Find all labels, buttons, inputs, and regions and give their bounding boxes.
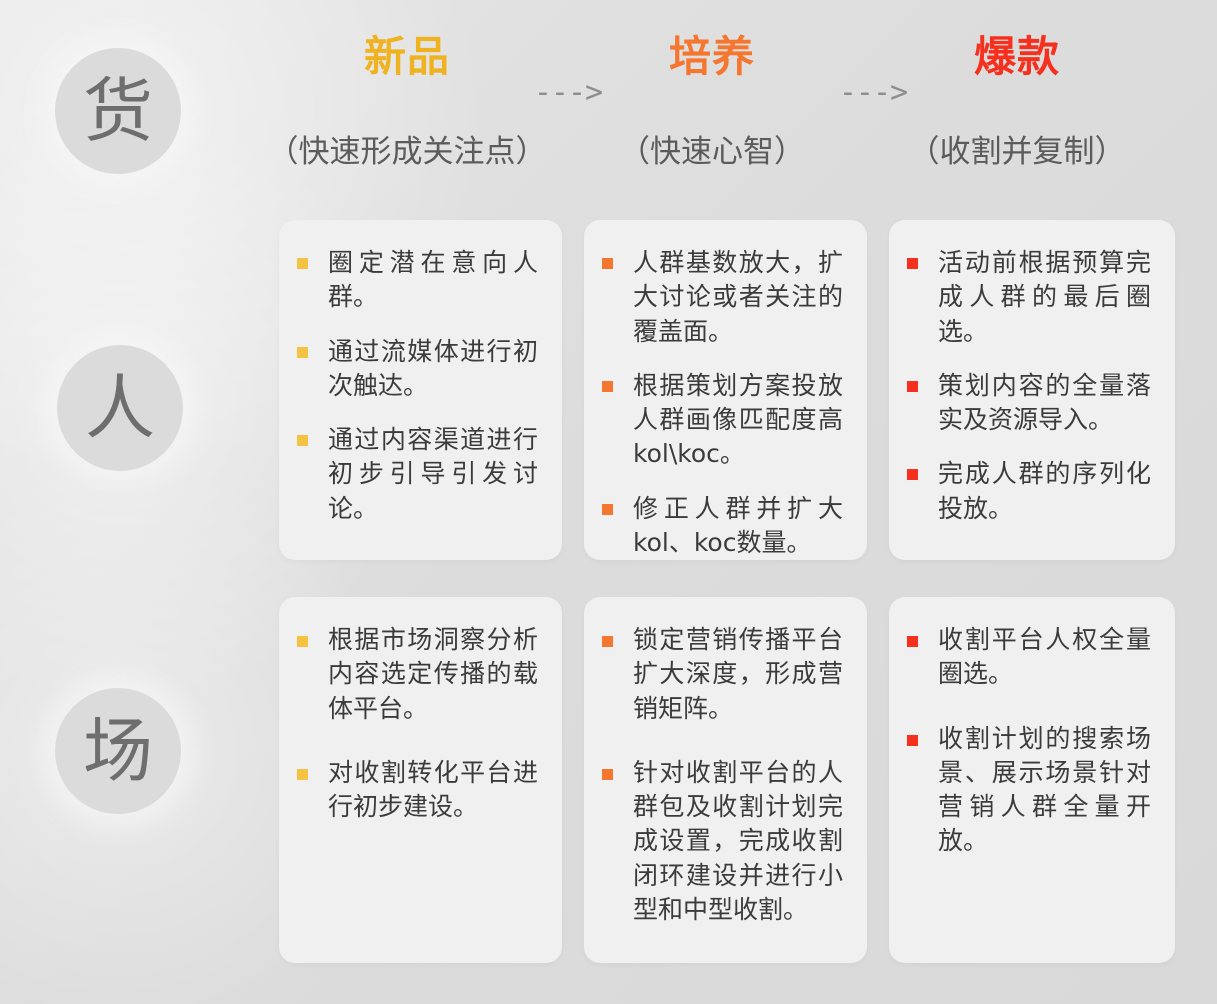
bullet-text: 对收割转化平台进行初步建设。 [328, 756, 538, 825]
bullet-list: 人群基数放大，扩大讨论或者关注的覆盖面。根据策划方案投放人群画像匹配度高kol\… [602, 246, 843, 560]
badge-goods-label: 货 [83, 76, 153, 146]
bullet-text: 完成人群的序列化投放。 [938, 457, 1151, 526]
bullet-item: 策划内容的全量落实及资源导入。 [907, 369, 1151, 438]
infographic-canvas: 货 人 场 新品 （快速形成关注点） ---> 培养 （快速心智） ---> 爆… [0, 0, 1217, 1004]
bullet-item: 锁定营销传播平台扩大深度，形成营销矩阵。 [602, 623, 843, 726]
bullet-square-icon [602, 258, 613, 269]
card-people-new-product: 圈定潜在意向人群。通过流媒体进行初次触达。通过内容渠道进行初步引导引发讨论。 [279, 220, 562, 560]
bullet-text: 通过内容渠道进行初步引导引发讨论。 [328, 423, 538, 526]
bullet-item: 通过内容渠道进行初步引导引发讨论。 [297, 423, 538, 526]
bullet-square-icon [602, 636, 613, 647]
card-place-new-product: 根据市场洞察分析内容选定传播的载体平台。对收割转化平台进行初步建设。 [279, 597, 562, 963]
stage-title-hot-item: 爆款 [872, 34, 1162, 80]
bullet-square-icon [907, 381, 918, 392]
stage-subtitle-hot-item: （收割并复制） [872, 126, 1162, 171]
bullet-square-icon [907, 735, 918, 746]
bullet-square-icon [297, 258, 308, 269]
bullet-item: 人群基数放大，扩大讨论或者关注的覆盖面。 [602, 246, 843, 349]
bullet-item: 活动前根据预算完成人群的最后圈选。 [907, 246, 1151, 349]
stage-subtitle-new-product: （快速形成关注点） [262, 126, 552, 171]
bullet-text: 锁定营销传播平台扩大深度，形成营销矩阵。 [633, 623, 843, 726]
badge-place-label: 场 [83, 716, 153, 786]
bullet-item: 收割计划的搜索场景、展示场景针对营销人群全量开放。 [907, 722, 1151, 859]
bullet-item: 对收割转化平台进行初步建设。 [297, 756, 538, 825]
bullet-square-icon [907, 469, 918, 480]
bullet-item: 通过流媒体进行初次触达。 [297, 335, 538, 404]
stage-header-row: 新品 （快速形成关注点） ---> 培养 （快速心智） ---> 爆款 （收割并… [262, 34, 1192, 194]
bullet-text: 针对收割平台的人群包及收割计划完成设置，完成收割闭环建设并进行小型和中型收割。 [633, 756, 843, 927]
bullet-square-icon [602, 769, 613, 780]
bullet-square-icon [602, 381, 613, 392]
stage-title-new-product: 新品 [262, 34, 552, 80]
stage-header-hot-item: 爆款 （收割并复制） [872, 34, 1162, 171]
bullet-text: 收割平台人权全量圈选。 [938, 623, 1151, 692]
bullet-list: 活动前根据预算完成人群的最后圈选。策划内容的全量落实及资源导入。完成人群的序列化… [907, 246, 1151, 526]
bullet-square-icon [297, 347, 308, 358]
bullet-square-icon [297, 769, 308, 780]
bullet-item: 收割平台人权全量圈选。 [907, 623, 1151, 692]
bullet-item: 完成人群的序列化投放。 [907, 457, 1151, 526]
bullet-item: 圈定潜在意向人群。 [297, 246, 538, 315]
bullet-list: 收割平台人权全量圈选。收割计划的搜索场景、展示场景针对营销人群全量开放。 [907, 623, 1151, 859]
bullet-square-icon [297, 435, 308, 446]
badge-people-label: 人 [85, 373, 155, 443]
bullet-item: 修正人群并扩大kol、koc数量。 [602, 492, 843, 561]
bullet-square-icon [907, 636, 918, 647]
bullet-text: 策划内容的全量落实及资源导入。 [938, 369, 1151, 438]
card-place-hot-item: 收割平台人权全量圈选。收割计划的搜索场景、展示场景针对营销人群全量开放。 [889, 597, 1175, 963]
bullet-text: 修正人群并扩大kol、koc数量。 [633, 492, 843, 561]
bullet-text: 根据市场洞察分析内容选定传播的载体平台。 [328, 623, 538, 726]
bullet-square-icon [602, 504, 613, 515]
bullet-list: 圈定潜在意向人群。通过流媒体进行初次触达。通过内容渠道进行初步引导引发讨论。 [297, 246, 538, 526]
card-people-nurture: 人群基数放大，扩大讨论或者关注的覆盖面。根据策划方案投放人群画像匹配度高kol\… [584, 220, 867, 560]
badge-people: 人 [57, 345, 183, 471]
bullet-square-icon [907, 258, 918, 269]
bullet-list: 锁定营销传播平台扩大深度，形成营销矩阵。针对收割平台的人群包及收割计划完成设置，… [602, 623, 843, 927]
bullet-item: 根据策划方案投放人群画像匹配度高kol\koc。 [602, 369, 843, 472]
bullet-square-icon [297, 636, 308, 647]
stage-title-nurture: 培养 [567, 34, 857, 80]
bullet-text: 圈定潜在意向人群。 [328, 246, 538, 315]
card-place-nurture: 锁定营销传播平台扩大深度，形成营销矩阵。针对收割平台的人群包及收割计划完成设置，… [584, 597, 867, 963]
bullet-text: 根据策划方案投放人群画像匹配度高kol\koc。 [633, 369, 843, 472]
bullet-item: 根据市场洞察分析内容选定传播的载体平台。 [297, 623, 538, 726]
bullet-text: 通过流媒体进行初次触达。 [328, 335, 538, 404]
bullet-item: 针对收割平台的人群包及收割计划完成设置，完成收割闭环建设并进行小型和中型收割。 [602, 756, 843, 927]
bullet-text: 收割计划的搜索场景、展示场景针对营销人群全量开放。 [938, 722, 1151, 859]
card-people-hot-item: 活动前根据预算完成人群的最后圈选。策划内容的全量落实及资源导入。完成人群的序列化… [889, 220, 1175, 560]
bullet-list: 根据市场洞察分析内容选定传播的载体平台。对收割转化平台进行初步建设。 [297, 623, 538, 824]
badge-place: 场 [55, 688, 181, 814]
bullet-text: 人群基数放大，扩大讨论或者关注的覆盖面。 [633, 246, 843, 349]
badge-goods: 货 [55, 48, 181, 174]
stage-subtitle-nurture: （快速心智） [567, 126, 857, 171]
bullet-text: 活动前根据预算完成人群的最后圈选。 [938, 246, 1151, 349]
